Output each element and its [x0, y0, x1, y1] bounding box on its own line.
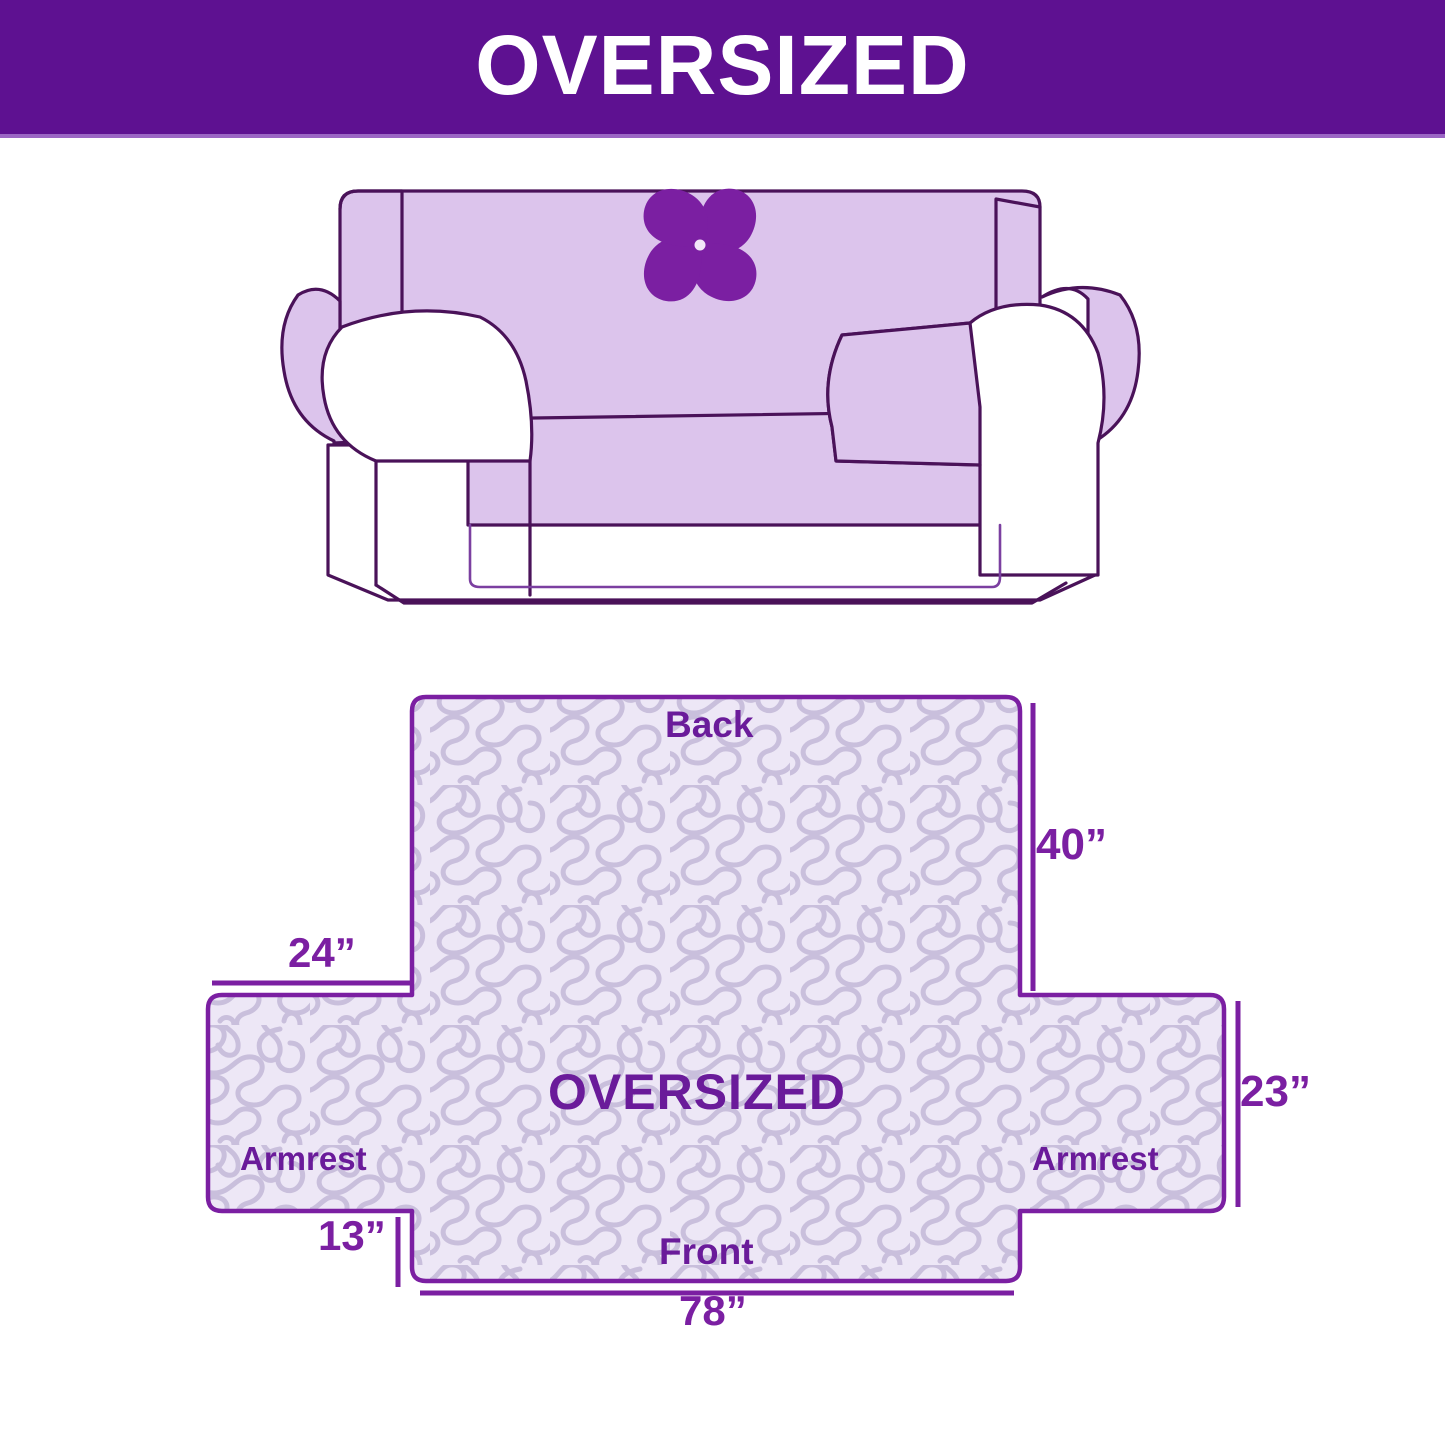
- sofa-svg: .ol { fill: none; stroke: #4A1259; strok…: [280, 175, 1185, 625]
- dimension-back-height: 40”: [1036, 823, 1107, 867]
- label-back-panel: Back: [665, 706, 753, 743]
- label-front-panel: Front: [659, 1233, 754, 1270]
- cover-outline-shape: [208, 697, 1224, 1281]
- header-banner: OVERSIZED: [0, 0, 1445, 134]
- size-guide-page: OVERSIZED .ol { fill: none; stroke: #4A1…: [0, 0, 1445, 1445]
- dimension-armrest-top: 24”: [288, 932, 356, 974]
- sofa-arm-left-roll: [322, 311, 532, 461]
- label-armrest-left: Armrest: [240, 1142, 367, 1175]
- label-armrest-right: Armrest: [1032, 1142, 1159, 1175]
- dimension-front-width: 78”: [679, 1290, 747, 1332]
- banner-title: OVERSIZED: [475, 23, 969, 111]
- label-center-size: OVERSIZED: [548, 1067, 846, 1117]
- pinwheel-flower-icon: [644, 189, 757, 302]
- sofa-illustration: .ol { fill: none; stroke: #4A1259; strok…: [280, 175, 1185, 625]
- dimension-armrest-depth: 23”: [1240, 1070, 1311, 1114]
- banner-underline: [0, 134, 1445, 138]
- dimension-front-drop: 13”: [318, 1215, 386, 1257]
- sofa-arm-right-pad: [828, 323, 980, 465]
